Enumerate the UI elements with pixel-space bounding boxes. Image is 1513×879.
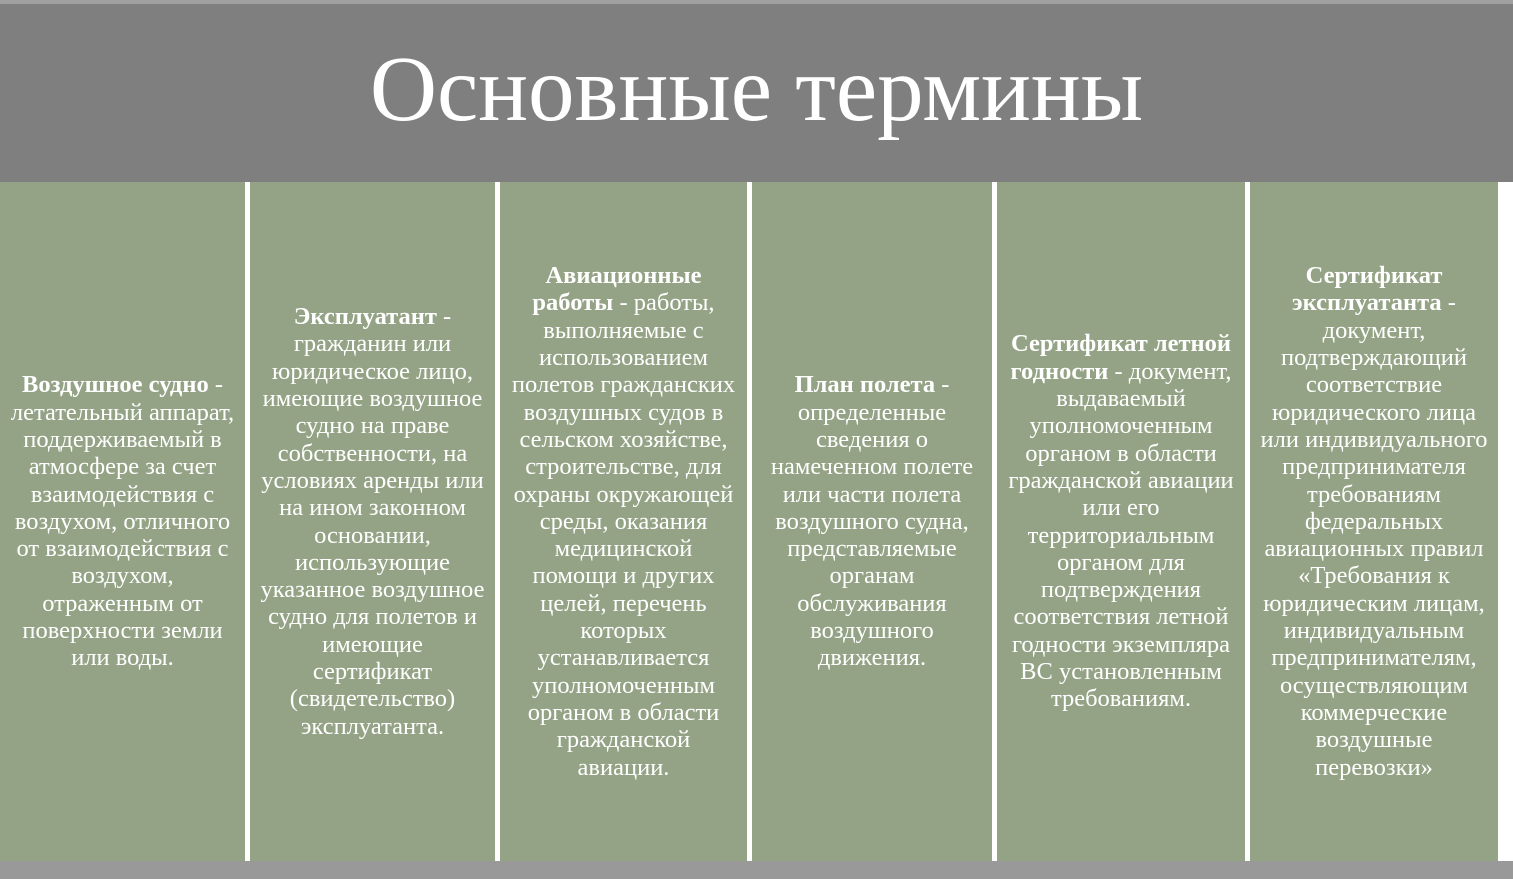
- term-card-4-title: План полета: [795, 371, 936, 398]
- term-card-2-title: Эксплуатант: [294, 303, 437, 330]
- term-card-1-separator: -: [209, 371, 223, 398]
- term-card-5-separator: -: [1108, 358, 1128, 385]
- page-title: Основные термины: [370, 41, 1143, 145]
- term-card-5-definition: документ, выдаваемый уполномоченным орга…: [1008, 358, 1233, 713]
- term-card-1-title: Воздушное судно: [22, 371, 209, 398]
- term-card-4-text: План полета - определенные сведения о на…: [762, 371, 982, 671]
- term-card-3-definition: работы, выполняемые с использованием пол…: [512, 289, 735, 780]
- terms-column-group: Воздушное судно - летательный аппарат, п…: [0, 182, 1513, 861]
- term-card-4-definition: определенные сведения о намеченном полет…: [771, 399, 973, 672]
- term-card-6-separator: -: [1442, 289, 1456, 316]
- term-card-2-text: Эксплуатант - гражданин или юридическое …: [260, 303, 485, 740]
- term-card-6-definition: документ, подтверждающий соответствие юр…: [1261, 317, 1488, 781]
- term-card-3: Авиационные работы - работы, выполняемые…: [500, 182, 747, 861]
- term-card-6-text: Сертификат эксплуатанта - документ, подт…: [1260, 262, 1488, 781]
- term-card-2-definition: гражданин или юридическое лицо, имеющие …: [261, 330, 485, 739]
- term-card-5-text: Сертификат летной годности - документ, в…: [1007, 330, 1235, 712]
- term-card-2-separator: -: [437, 303, 451, 330]
- term-card-6: Сертификат эксплуатанта - документ, подт…: [1250, 182, 1498, 861]
- term-card-4-separator: -: [935, 371, 949, 398]
- bottom-band: [0, 861, 1513, 879]
- term-card-3-text: Авиационные работы - работы, выполняемые…: [510, 262, 737, 781]
- term-card-5: Сертификат летной годности - документ, в…: [997, 182, 1245, 861]
- term-card-4: План полета - определенные сведения о на…: [752, 182, 992, 861]
- term-card-2: Эксплуатант - гражданин или юридическое …: [250, 182, 495, 861]
- term-card-1: Воздушное судно - летательный аппарат, п…: [0, 182, 245, 861]
- title-band: Основные термины: [0, 4, 1513, 182]
- term-card-3-separator: -: [613, 289, 633, 316]
- term-card-1-text: Воздушное судно - летательный аппарат, п…: [10, 371, 235, 671]
- term-card-6-title: Сертификат эксплуатанта: [1292, 262, 1442, 316]
- term-card-1-definition: летательный аппарат, поддерживаемый в ат…: [11, 399, 234, 672]
- slide: Основные термины Воздушное судно - летат…: [0, 0, 1513, 879]
